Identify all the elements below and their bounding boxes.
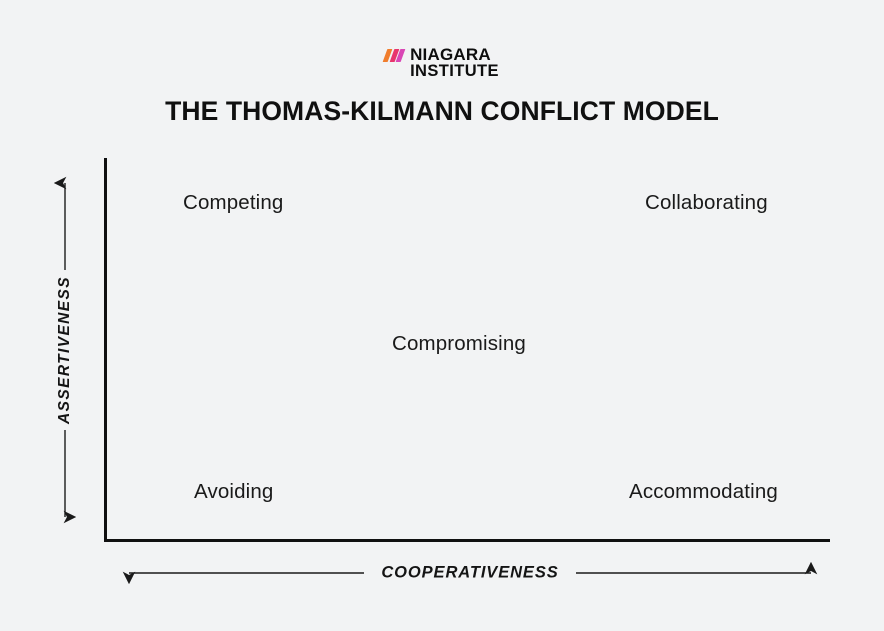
y-axis-label: ASSERTIVENESS bbox=[52, 270, 78, 430]
diagram-canvas: NIAGARA INSTITUTE THE THOMAS-KILMANN CON… bbox=[0, 0, 884, 631]
brand-inner: NIAGARA INSTITUTE bbox=[385, 46, 499, 80]
mode-label-avoiding: Avoiding bbox=[194, 480, 273, 504]
y-axis-group: ASSERTIVENESS bbox=[44, 178, 86, 522]
page-title: THE THOMAS-KILMANN CONFLICT MODEL bbox=[0, 96, 884, 127]
mode-label-accommodating: Accommodating bbox=[629, 480, 778, 504]
brand-wordmark: NIAGARA INSTITUTE bbox=[410, 46, 499, 80]
mode-label-competing: Competing bbox=[183, 191, 284, 215]
mode-label-compromising: Compromising bbox=[392, 332, 526, 356]
x-axis-group: COOPERATIVENESS bbox=[124, 556, 816, 590]
mode-label-collaborating: Collaborating bbox=[645, 191, 768, 215]
niagara-logo-icon bbox=[385, 49, 403, 62]
brand-lockup: NIAGARA INSTITUTE bbox=[0, 46, 884, 80]
x-axis-label: COOPERATIVENESS bbox=[369, 562, 570, 585]
brand-name-line1: NIAGARA bbox=[410, 46, 499, 63]
horizontal-axis-line bbox=[104, 539, 830, 542]
brand-name-line2: INSTITUTE bbox=[410, 63, 499, 80]
vertical-axis-line bbox=[104, 158, 107, 542]
